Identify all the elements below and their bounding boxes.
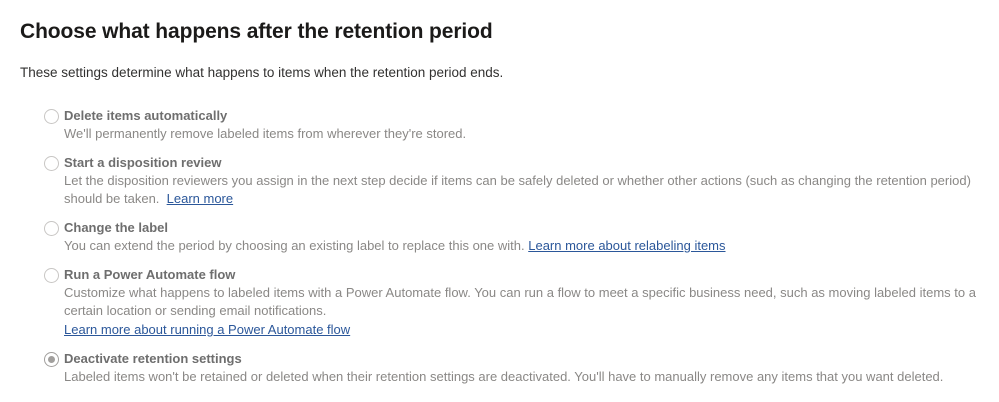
spacer (159, 191, 166, 206)
radio-option-run-a-power-automate-flow[interactable]: Run a Power Automate flow Customize what… (20, 266, 979, 339)
learn-more-about-relabeling-items-link[interactable]: Learn more about relabeling items (528, 238, 725, 253)
radio-option-description: You can extend the period by choosing an… (64, 237, 979, 255)
learn-more-link[interactable]: Learn more (167, 191, 233, 206)
radio-option-description: We'll permanently remove labeled items f… (64, 125, 979, 143)
radio-button-icon[interactable] (44, 268, 59, 283)
radio-button-icon[interactable] (44, 156, 59, 171)
radio-button-selected-icon[interactable] (44, 352, 59, 367)
radio-option-label: Deactivate retention settings (64, 350, 979, 368)
radio-option-label: Run a Power Automate flow (64, 266, 979, 284)
radio-button-icon[interactable] (44, 109, 59, 124)
radio-option-change-the-label[interactable]: Change the label You can extend the peri… (20, 219, 979, 255)
retention-period-settings-panel: Choose what happens after the retention … (0, 0, 999, 402)
retention-action-radio-group[interactable]: Delete items automatically We'll permane… (20, 107, 979, 386)
page-subtitle: These settings determine what happens to… (20, 63, 979, 83)
radio-option-label: Start a disposition review (64, 154, 979, 172)
radio-option-label: Change the label (64, 219, 979, 237)
radio-option-start-a-disposition-review[interactable]: Start a disposition review Let the dispo… (20, 154, 979, 208)
radio-option-description: Customize what happens to labeled items … (64, 284, 979, 320)
radio-option-deactivate-retention-settings[interactable]: Deactivate retention settings Labeled it… (20, 350, 979, 386)
radio-option-label: Delete items automatically (64, 107, 979, 125)
radio-option-delete-items-automatically[interactable]: Delete items automatically We'll permane… (20, 107, 979, 143)
radio-button-icon[interactable] (44, 221, 59, 236)
page-title: Choose what happens after the retention … (20, 18, 979, 46)
radio-option-description-text: You can extend the period by choosing an… (64, 238, 525, 253)
radio-option-description: Labeled items won't be retained or delet… (64, 368, 979, 386)
radio-option-description: Let the disposition reviewers you assign… (64, 172, 979, 208)
learn-more-about-running-a-power-automate-flow-link[interactable]: Learn more about running a Power Automat… (64, 321, 979, 339)
